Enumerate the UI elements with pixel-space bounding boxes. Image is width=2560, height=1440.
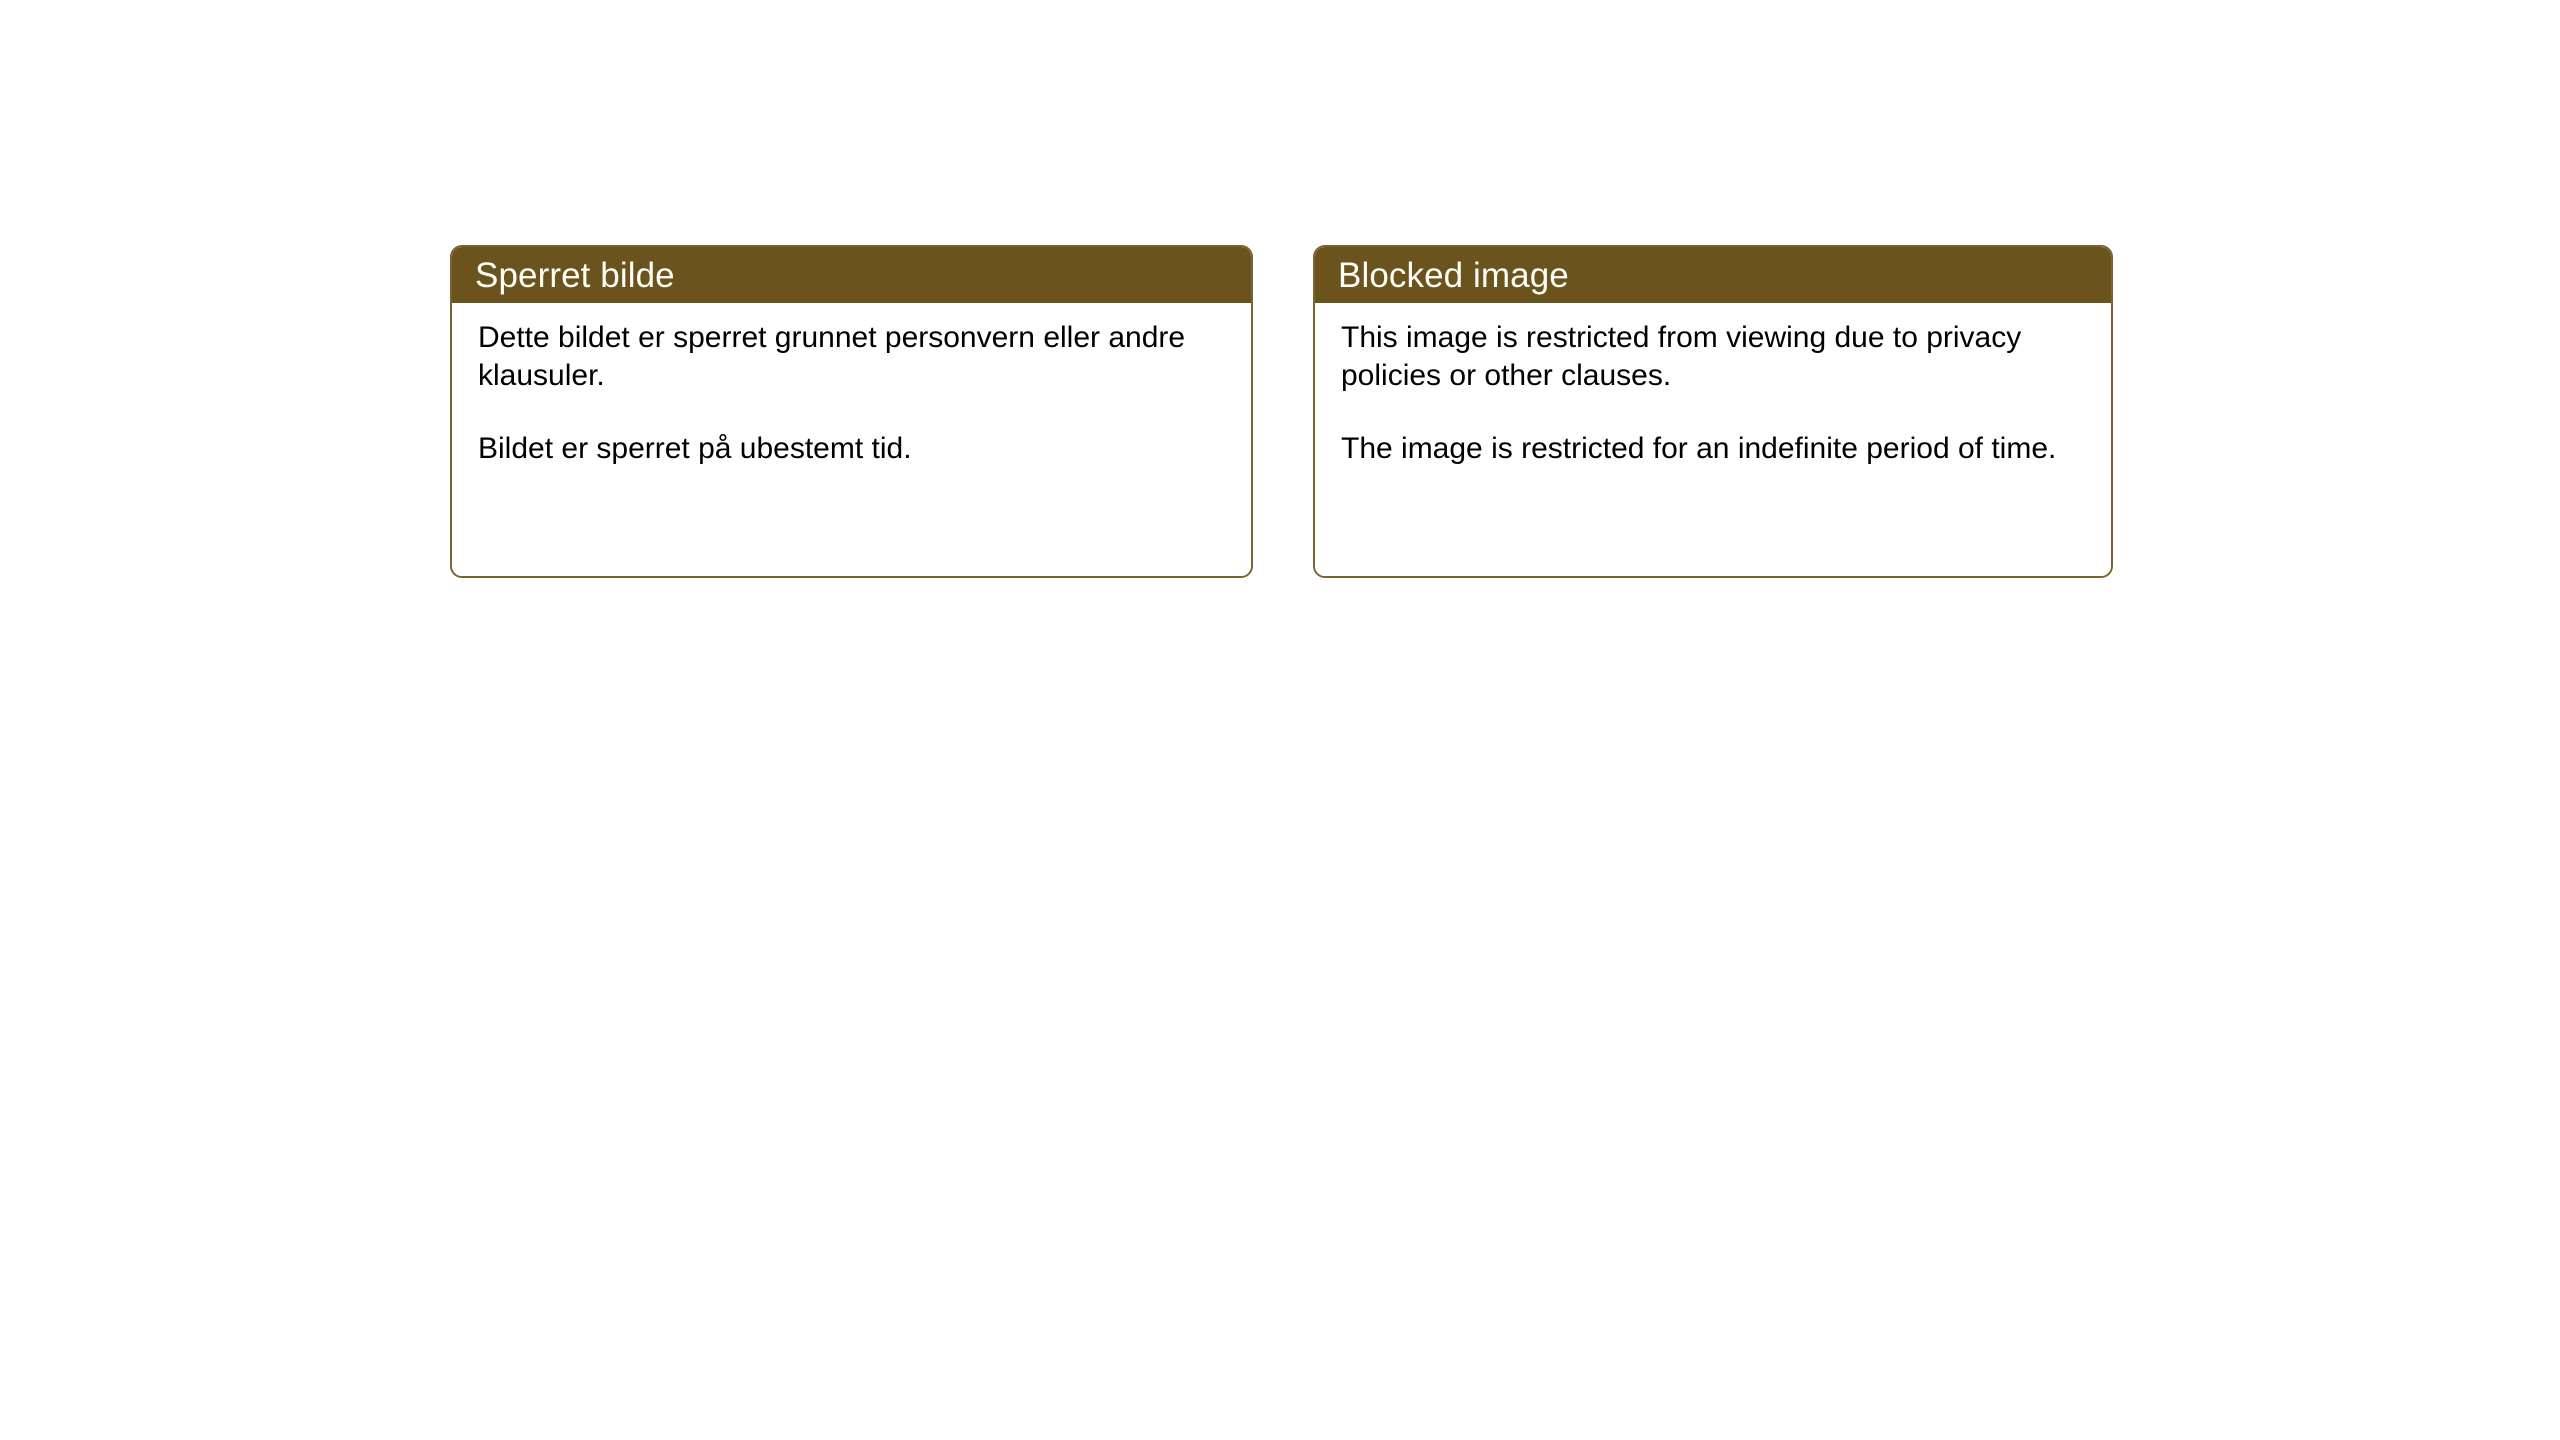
card-header-english: Blocked image: [1315, 247, 2111, 303]
blocked-image-notice-group: Sperret bilde Dette bildet er sperret gr…: [450, 245, 2113, 578]
blocked-image-card-english: Blocked image This image is restricted f…: [1313, 245, 2113, 578]
card-paragraph-reason-norwegian: Dette bildet er sperret grunnet personve…: [478, 319, 1225, 395]
card-body-norwegian: Dette bildet er sperret grunnet personve…: [452, 303, 1251, 576]
blocked-image-card-norwegian: Sperret bilde Dette bildet er sperret gr…: [450, 245, 1253, 578]
card-body-english: This image is restricted from viewing du…: [1315, 303, 2111, 576]
card-title-english: Blocked image: [1338, 258, 1569, 293]
page-canvas: Sperret bilde Dette bildet er sperret gr…: [0, 0, 2560, 1440]
card-paragraph-duration-norwegian: Bildet er sperret på ubestemt tid.: [478, 430, 1225, 468]
card-paragraph-reason-english: This image is restricted from viewing du…: [1341, 319, 2085, 395]
card-paragraph-duration-english: The image is restricted for an indefinit…: [1341, 430, 2085, 468]
card-header-norwegian: Sperret bilde: [452, 247, 1251, 303]
card-title-norwegian: Sperret bilde: [475, 258, 675, 293]
